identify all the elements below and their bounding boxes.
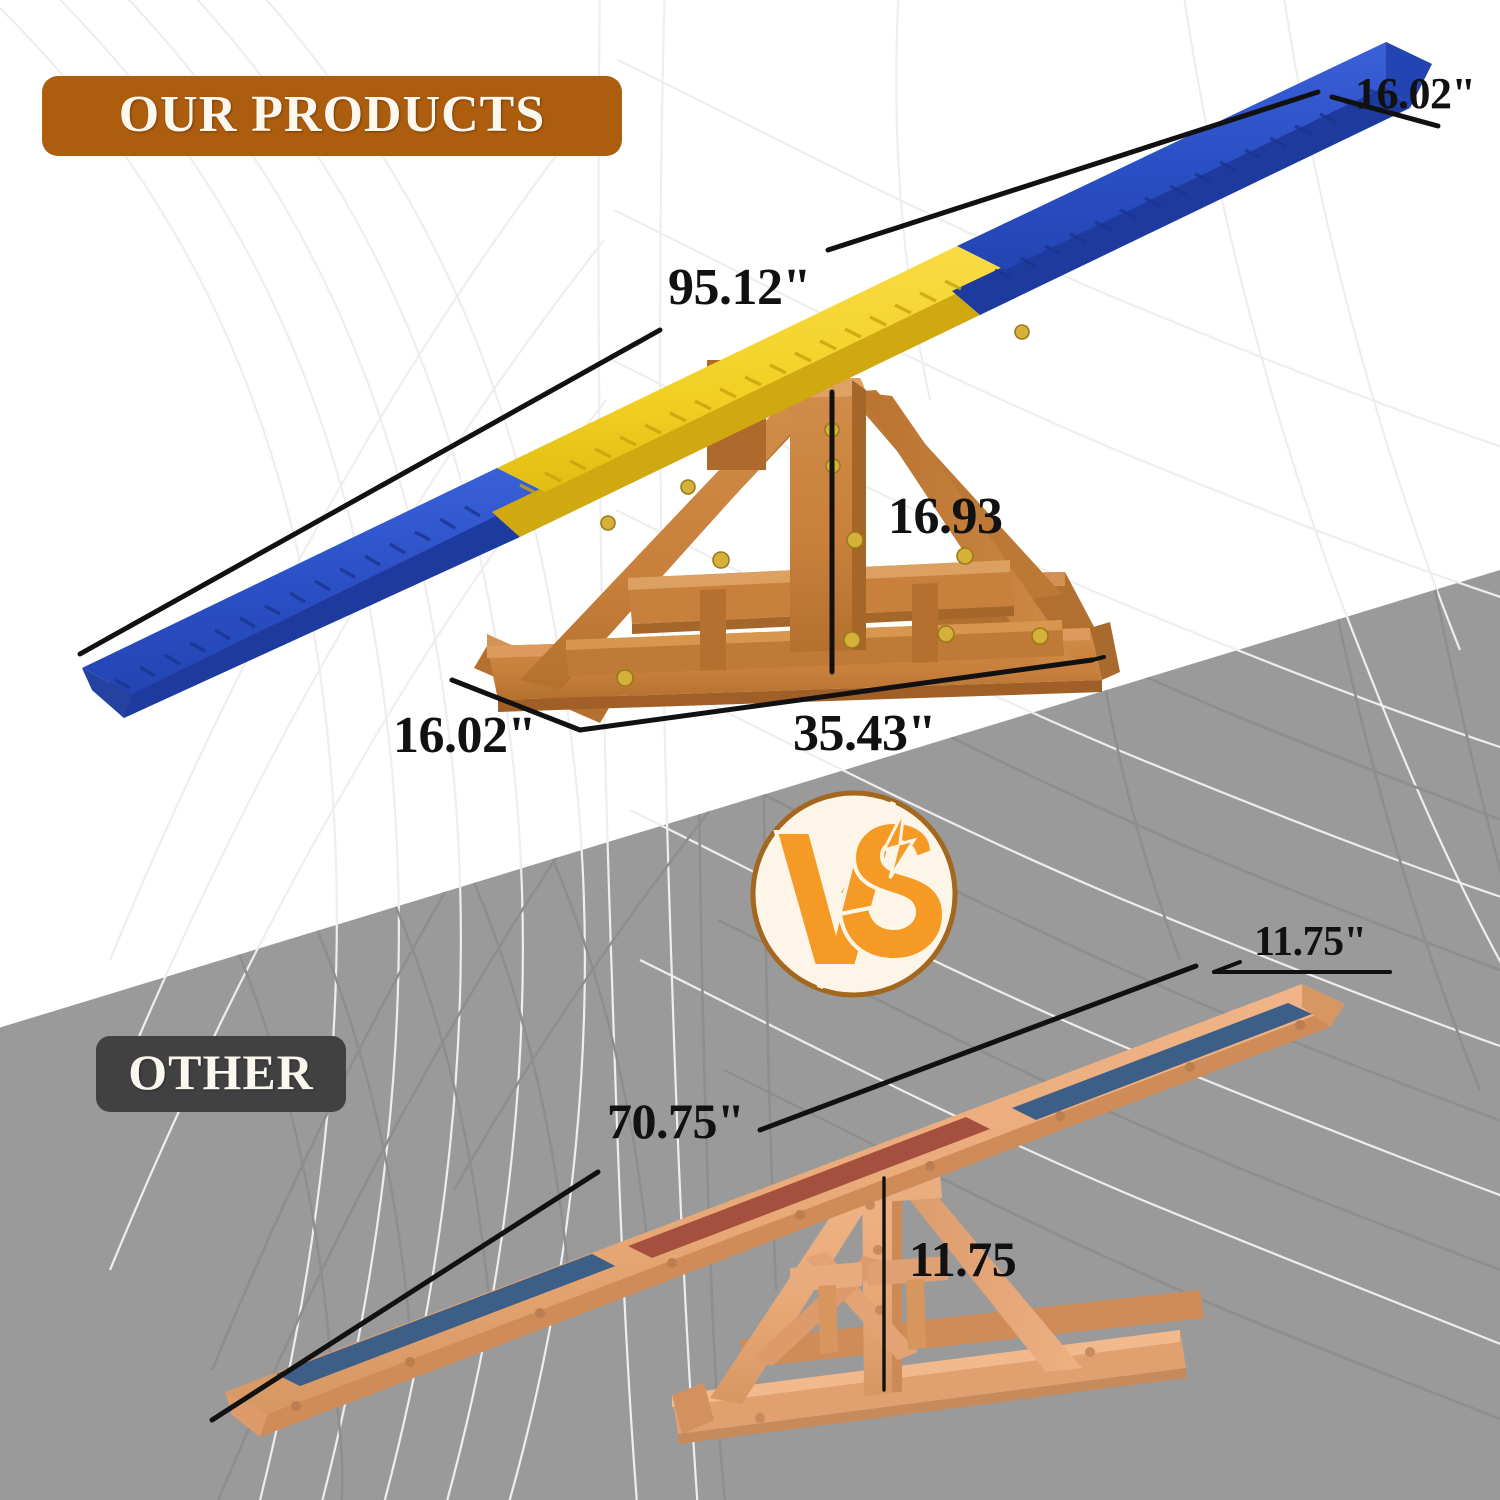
dimension-label-length-top: 95.12" — [668, 258, 811, 317]
dimension-label-base-depth-top: 16.02" — [393, 706, 536, 765]
dimension-label-base-length-top: 35.43" — [793, 704, 936, 763]
dimension-label-width-bottom: 11.75" — [1254, 918, 1367, 966]
dimension-label-height-bottom: 11.75 — [909, 1230, 1016, 1288]
dimension-label-height-top: 16.93 — [888, 487, 1003, 546]
other-badge: OTHER — [96, 1036, 346, 1112]
our-products-badge: OUR PRODUCTS — [42, 76, 622, 156]
vs-badge: VS — [748, 788, 960, 1000]
dimension-label-width-top: 16.02" — [1355, 68, 1475, 119]
dimension-label-length-bottom: 70.75" — [607, 1092, 744, 1150]
infographic-canvas: OUR PRODUCTS OTHER 95.12" 16.02" 16.93 1… — [0, 0, 1500, 1500]
